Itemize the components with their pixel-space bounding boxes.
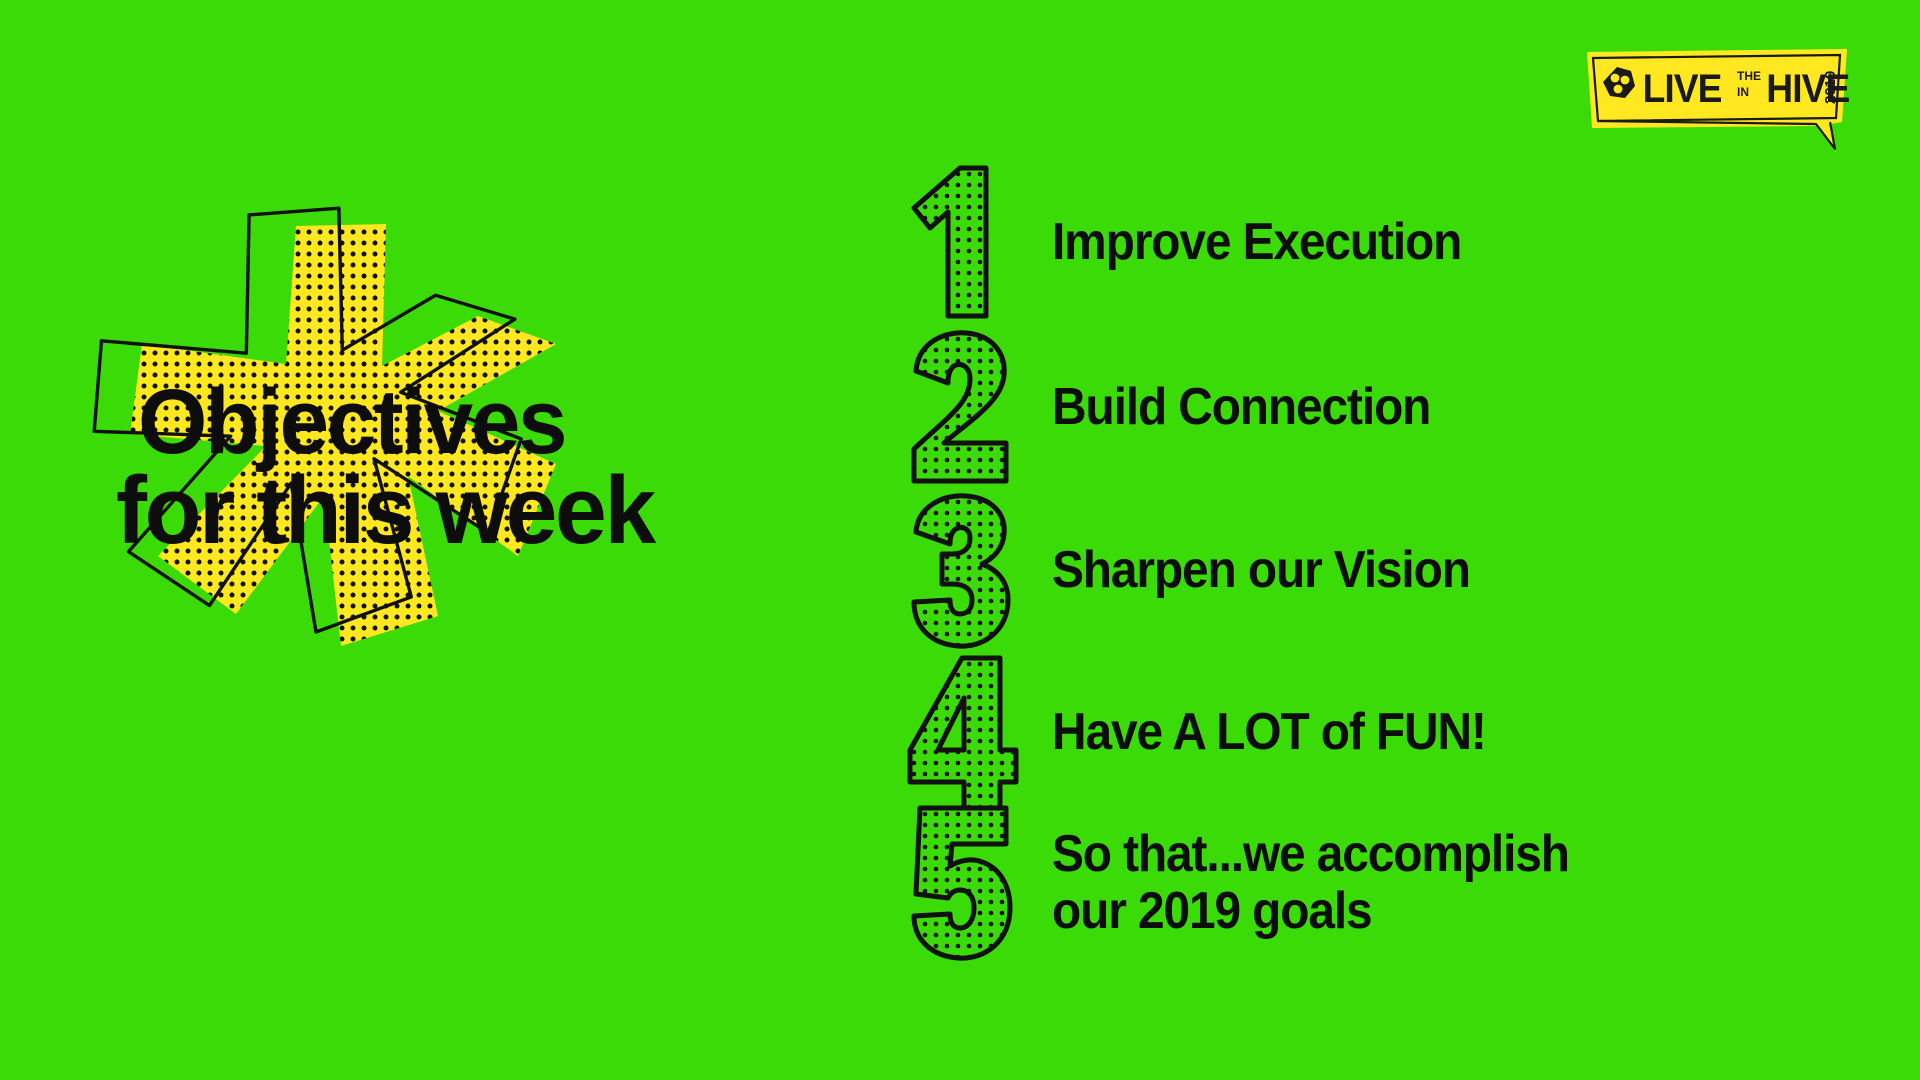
logo-small-the: THE (1737, 69, 1761, 83)
objectives-list: Improve Execution Build Connection (900, 150, 1880, 980)
objective-text-3: Sharpen our Vision (1052, 542, 1470, 598)
logo-year: 2019 (1822, 71, 1839, 104)
objective-item-5: So that...we accomplish our 2019 goals (900, 800, 1614, 965)
halftone-asterisk-artwork (86, 196, 646, 686)
objective-text-5-line-2: our 2019 goals (1052, 883, 1569, 939)
logo-word-live: LIVE (1643, 67, 1722, 112)
objective-text-5-line-1: So that...we accomplish (1052, 826, 1569, 882)
objective-text-2: Build Connection (1052, 379, 1430, 435)
asterisk-svg (86, 196, 646, 686)
objective-number-2 (900, 325, 1030, 490)
objective-text-2-line-1: Build Connection (1052, 379, 1430, 435)
objective-item-2: Build Connection (900, 325, 1463, 490)
objective-text-1: Improve Execution (1052, 214, 1461, 270)
objective-text-5: So that...we accomplish our 2019 goals (1052, 826, 1569, 938)
objective-item-3: Sharpen our Vision (900, 488, 1506, 653)
objective-number-1 (900, 160, 1030, 325)
slide-canvas: LIVE THE IN HIVE 2019 (0, 0, 1920, 1080)
objective-text-4-line-1: Have A LOT of FUN! (1052, 704, 1486, 760)
objective-number-3 (900, 488, 1030, 653)
objective-number-5 (900, 800, 1030, 965)
objective-number-4 (900, 650, 1030, 815)
objective-item-1: Improve Execution (900, 160, 1497, 325)
logo-small-in: IN (1737, 85, 1749, 99)
objective-text-1-line-1: Improve Execution (1052, 214, 1461, 270)
objective-text-3-line-1: Sharpen our Vision (1052, 542, 1470, 598)
objective-item-4: Have A LOT of FUN! (900, 650, 1523, 815)
logo-svg: LIVE THE IN HIVE 2019 (1584, 48, 1850, 158)
objective-text-4: Have A LOT of FUN! (1052, 704, 1486, 760)
live-in-the-hive-logo: LIVE THE IN HIVE 2019 (1584, 48, 1850, 158)
